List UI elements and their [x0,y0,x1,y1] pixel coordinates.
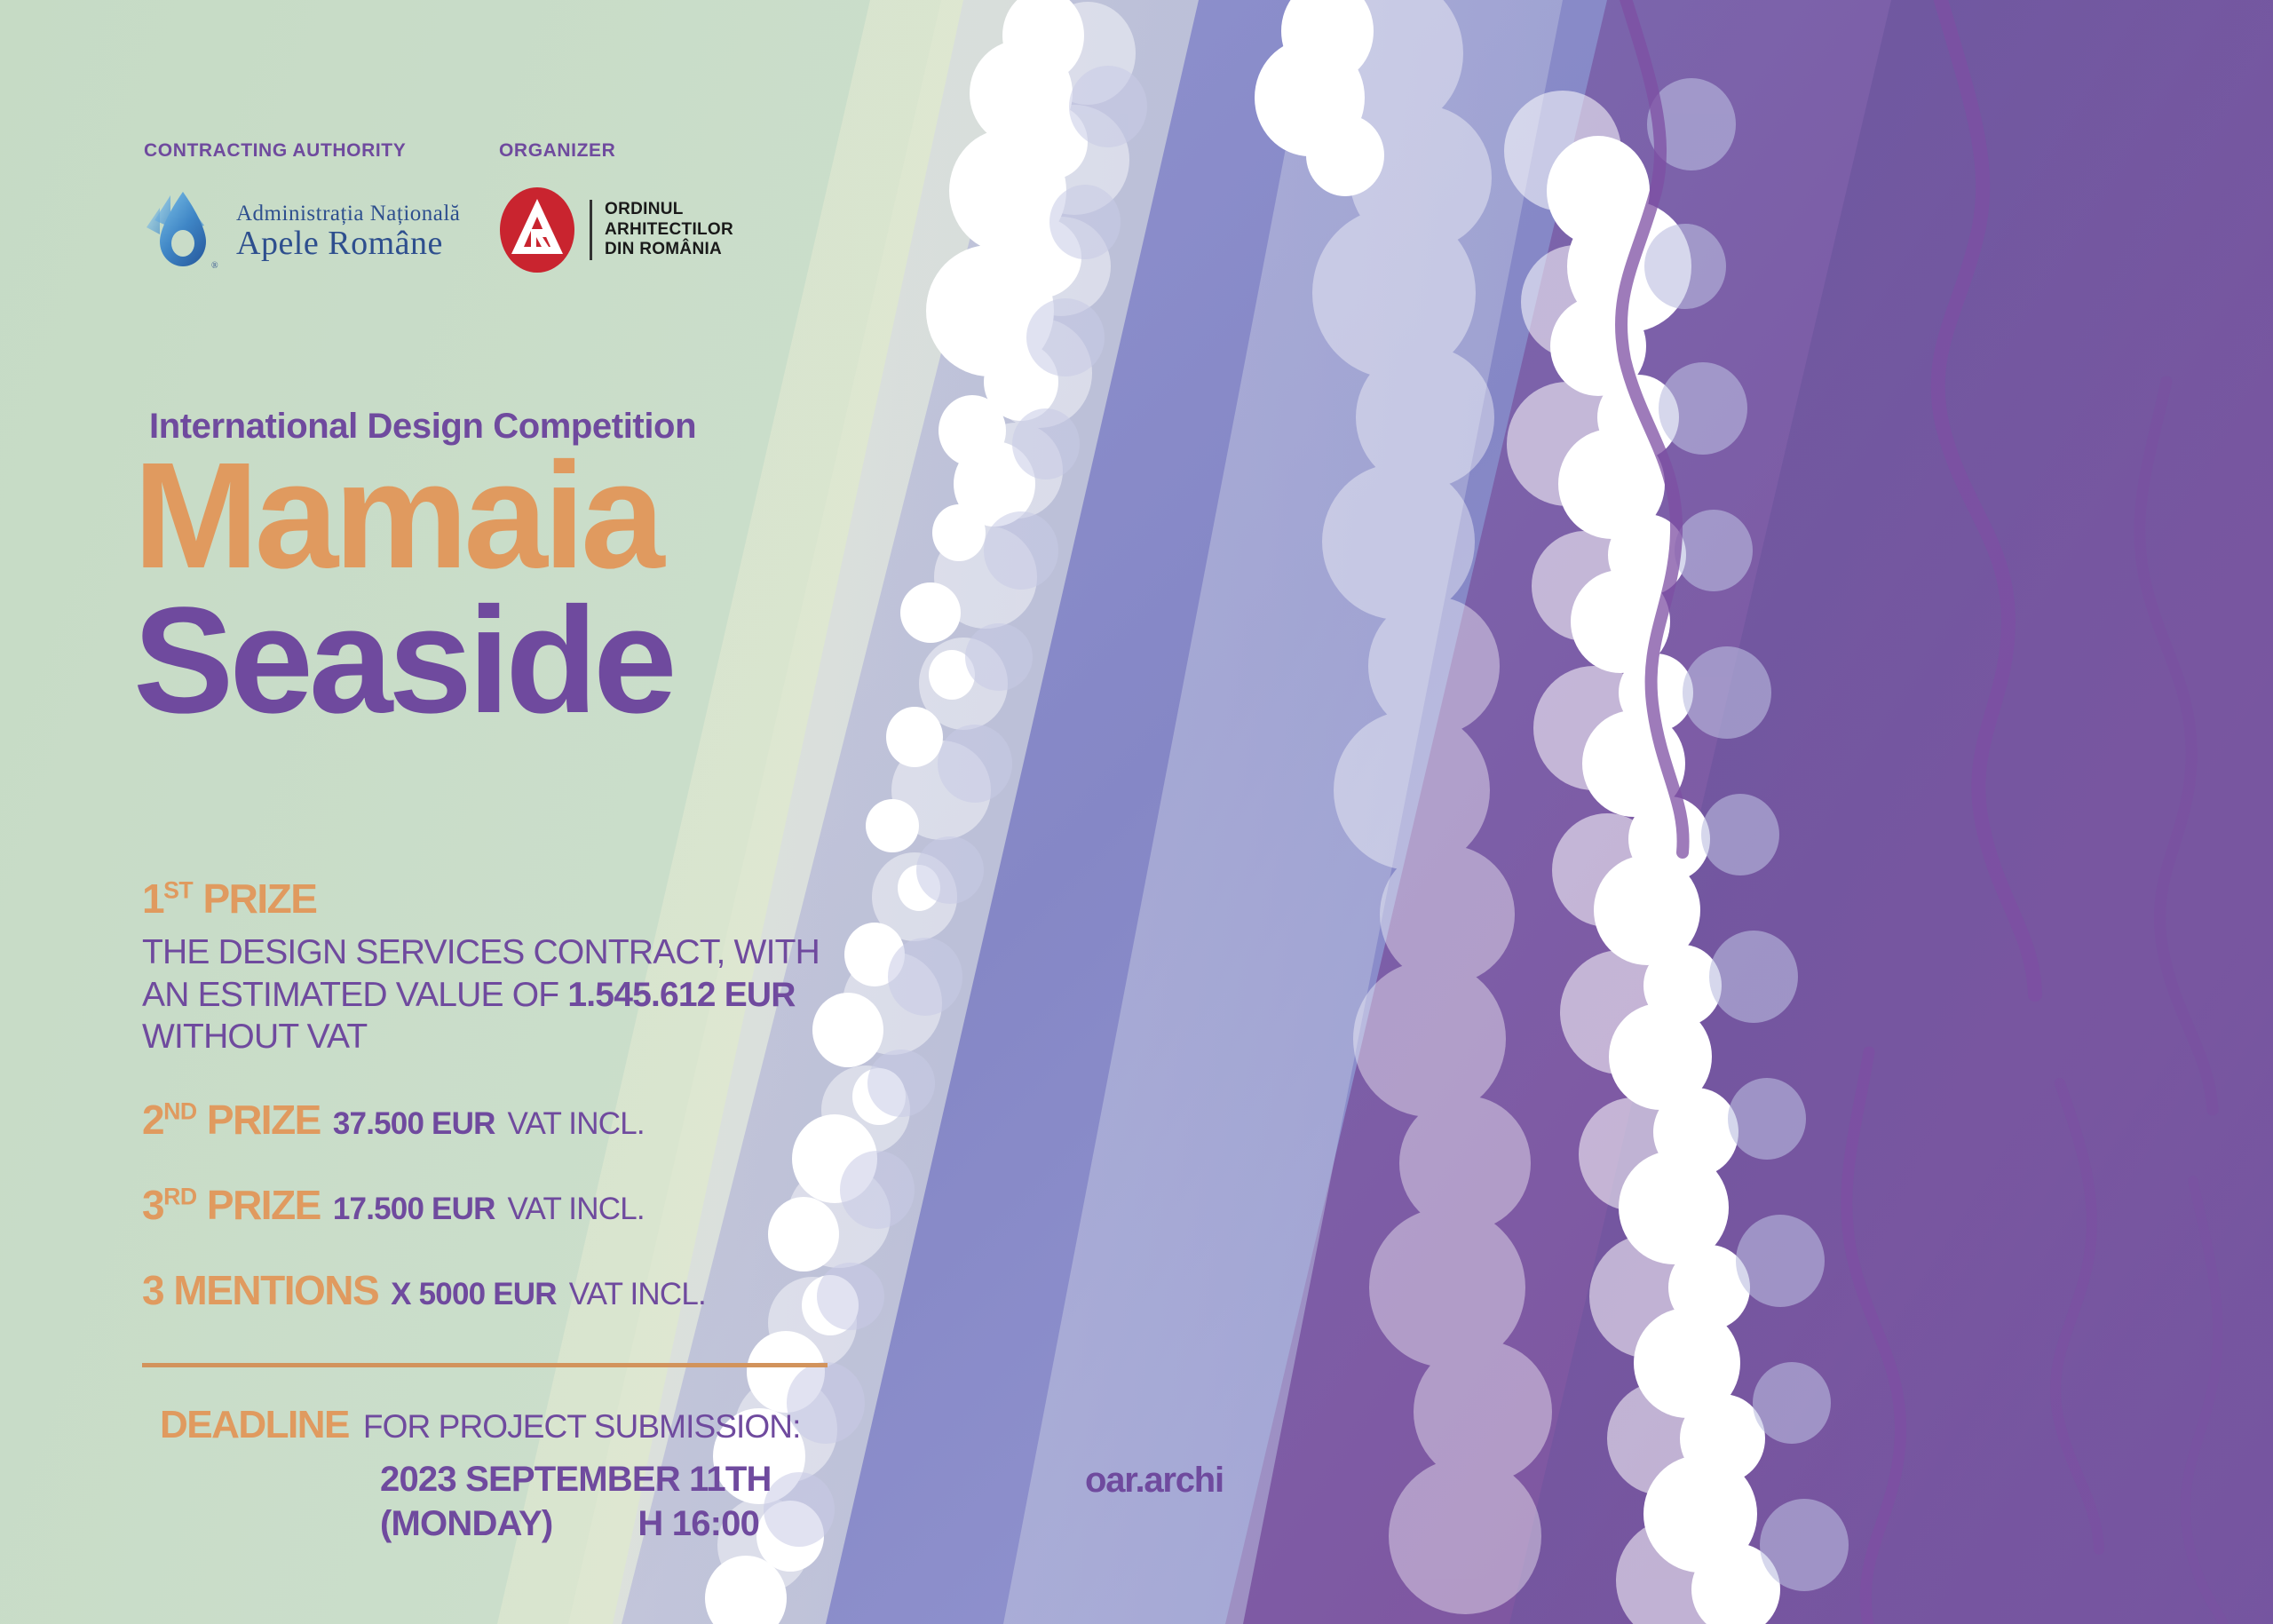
prize-first-amount: 1.545.612 EUR [567,976,795,1014]
water-drop-icon: ® [144,188,224,273]
prizes-section: 1ST PRIZE THE DESIGN SERVICES CONTRACT, … [142,875,852,1314]
prize-third-label: PRIZE [207,1182,321,1228]
deadline-date: 2023 SEPTEMBER 11TH [380,1460,772,1499]
prize-mentions-vat: VAT INCL. [569,1277,706,1312]
prize-first-ordinal: 1 [142,875,163,922]
prize-first-desc-line2: AN ESTIMATED VALUE OF [142,976,567,1014]
svg-text:®: ® [211,261,218,271]
prize-mentions-count: 3 [142,1267,163,1313]
apele-line2: Apele Române [236,226,460,260]
prize-second-heading: 2ND PRIZE [142,1096,321,1144]
prize-second: 2ND PRIZE 37.500 EUR VAT INCL. [142,1096,852,1144]
prize-first: 1ST PRIZE THE DESIGN SERVICES CONTRACT, … [142,875,852,1058]
deadline-time: H 16:00 [638,1502,759,1547]
prize-third-heading: 3RD PRIZE [142,1181,321,1229]
prize-first-desc-line3: WITHOUT VAT [142,1018,367,1056]
oar-line1: ORDINUL [605,200,733,219]
prize-mentions-heading: 3 MENTIONS [142,1266,378,1314]
section-divider [142,1363,828,1367]
deadline-word: DEADLINE [142,1403,349,1447]
prize-mentions-label: MENTIONS [173,1267,378,1313]
prize-third: 3RD PRIZE 17.500 EUR VAT INCL. [142,1181,852,1229]
deadline-day: (MONDAY) [380,1502,552,1547]
credits-row: CONTRACTING AUTHORITY [144,140,733,273]
prize-second-ordinal: 2 [142,1097,163,1143]
poster-content: CONTRACTING AUTHORITY [0,0,941,1624]
prize-first-label: PRIZE [202,875,316,922]
prize-third-amount: 17.500 EUR [333,1192,495,1227]
prize-second-vat: VAT INCL. [508,1106,645,1142]
oar-emblem-icon [499,186,575,273]
prize-mentions-amount: X 5000 EUR [391,1277,557,1312]
competition-title: Mamaia Seaside [133,444,673,733]
title-line-seaside: Seaside [133,589,673,733]
prize-first-heading: 1ST PRIZE [142,875,316,923]
site-url[interactable]: oar.archi [1085,1461,1224,1501]
organizer-block: ORGANIZER ORDINUL ARHITECTILOR DIN ROMÂN… [499,140,733,273]
apele-romane-logo: ® Administrația Națională Apele Române [144,188,499,273]
organizer-label: ORGANIZER [499,140,733,162]
prize-third-ordinal: 3 [142,1182,163,1228]
prize-second-label: PRIZE [207,1097,321,1143]
oar-logo: ORDINUL ARHITECTILOR DIN ROMÂNIA [499,186,733,273]
deadline-section: DEADLINE FOR PROJECT SUBMISSION: 2023 SE… [142,1403,870,1546]
apele-line1: Administrația Națională [236,202,460,225]
prize-mentions: 3 MENTIONS X 5000 EUR VAT INCL. [142,1266,852,1314]
poster-canvas: CONTRACTING AUTHORITY [0,0,2273,1624]
deadline-for-text: FOR PROJECT SUBMISSION: [363,1408,801,1446]
oar-line2: ARHITECTILOR [605,220,733,240]
prize-first-description: THE DESIGN SERVICES CONTRACT, WITH AN ES… [142,931,852,1058]
contracting-authority-block: CONTRACTING AUTHORITY [144,140,499,273]
prize-second-amount: 37.500 EUR [333,1106,495,1142]
prize-first-ordinal-suffix: ST [163,877,193,904]
prize-first-desc-line1: THE DESIGN SERVICES CONTRACT, WITH [142,933,820,971]
oar-line3: DIN ROMÂNIA [605,240,733,259]
contracting-authority-label: CONTRACTING AUTHORITY [144,140,499,162]
prize-third-vat: VAT INCL. [508,1192,645,1227]
prize-third-ordinal-suffix: RD [163,1183,197,1209]
title-line-mamaia: Mamaia [133,444,673,589]
prize-second-ordinal-suffix: ND [163,1097,197,1124]
